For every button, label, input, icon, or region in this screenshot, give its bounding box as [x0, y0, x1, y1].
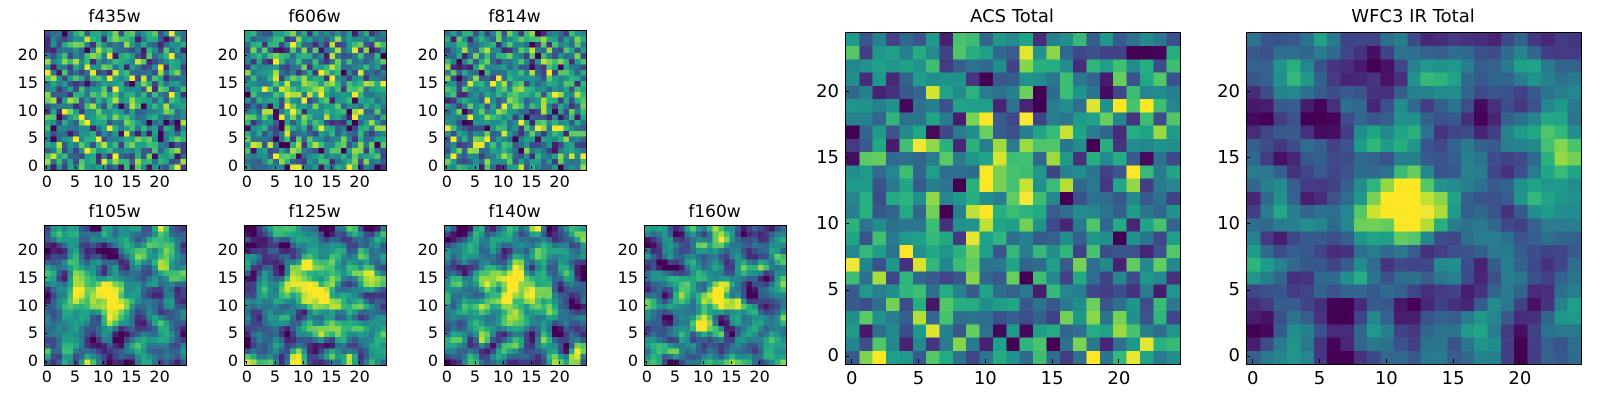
x-tick — [1386, 359, 1387, 363]
y-tick — [44, 250, 47, 251]
x-tick — [759, 361, 760, 364]
y-tick-label: 0 — [382, 158, 438, 174]
x-tick-label: 20 — [530, 174, 590, 190]
y-tick — [444, 333, 447, 334]
y-tick — [845, 290, 849, 291]
y-tick-label: 15 — [382, 75, 438, 91]
panel-f140w: f140w0510152005101520 — [444, 225, 585, 364]
y-tick — [44, 305, 47, 306]
heatmap-f435w — [44, 30, 187, 171]
panel-acs-total: ACS Total0510152005101520 — [845, 32, 1179, 363]
x-tick — [503, 166, 504, 169]
x-tick-label: 15 — [1423, 370, 1483, 388]
x-tick — [1519, 359, 1520, 363]
x-tick — [1453, 359, 1454, 363]
y-tick-label: 5 — [0, 130, 38, 146]
x-tick — [359, 166, 360, 169]
y-tick-label: 0 — [382, 353, 438, 369]
heatmap-f606w — [244, 30, 387, 171]
heatmap-canvas-f160w — [645, 226, 786, 365]
x-tick — [559, 361, 560, 364]
y-tick-label: 0 — [182, 353, 238, 369]
y-tick-label: 15 — [582, 270, 638, 286]
x-tick-label: 0 — [1223, 370, 1283, 388]
y-tick-label: 15 — [182, 75, 238, 91]
x-tick — [303, 361, 304, 364]
heatmap-f160w — [644, 225, 787, 366]
x-tick-label: 10 — [955, 370, 1015, 388]
x-tick — [1118, 359, 1119, 363]
heatmap-f125w — [244, 225, 387, 366]
x-tick — [159, 361, 160, 364]
y-tick — [44, 166, 47, 167]
x-tick — [159, 166, 160, 169]
panel-f125w: f125w0510152005101520 — [244, 225, 385, 364]
x-tick — [359, 361, 360, 364]
x-tick — [75, 361, 76, 364]
heatmap-canvas-wfc3-ir-total — [1247, 33, 1581, 364]
panel-title-acs-total: ACS Total — [845, 8, 1179, 26]
y-tick — [644, 305, 647, 306]
y-tick — [444, 55, 447, 56]
y-tick-label: 20 — [182, 47, 238, 63]
x-tick — [675, 361, 676, 364]
x-tick — [918, 359, 919, 363]
y-tick — [244, 277, 247, 278]
y-tick — [444, 250, 447, 251]
panel-f160w: f160w0510152005101520 — [644, 225, 785, 364]
x-tick — [559, 166, 560, 169]
heatmap-f140w — [444, 225, 587, 366]
panel-title-f160w: f160w — [644, 204, 785, 221]
x-tick — [531, 361, 532, 364]
y-tick — [444, 138, 447, 139]
x-tick-label: 20 — [730, 369, 790, 385]
figure-canvas: f435w0510152005101520f606w05101520051015… — [0, 0, 1600, 400]
x-tick — [131, 166, 132, 169]
heatmap-f814w — [444, 30, 587, 171]
x-tick — [1252, 359, 1253, 363]
x-tick — [703, 361, 704, 364]
y-tick-label: 10 — [0, 298, 38, 314]
y-tick — [244, 361, 247, 362]
y-tick-label: 5 — [582, 325, 638, 341]
y-tick-label: 10 — [582, 298, 638, 314]
panel-title-f140w: f140w — [444, 204, 585, 221]
y-tick-label: 10 — [1184, 215, 1240, 233]
y-tick — [1246, 157, 1250, 158]
heatmap-canvas-f125w — [245, 226, 386, 365]
y-tick — [44, 110, 47, 111]
y-tick-label: 15 — [1184, 149, 1240, 167]
y-tick — [845, 91, 849, 92]
y-tick — [44, 361, 47, 362]
x-tick — [103, 166, 104, 169]
y-tick — [1246, 91, 1250, 92]
heatmap-acs-total — [845, 32, 1181, 365]
heatmap-wfc3-ir-total — [1246, 32, 1582, 365]
x-tick-label: 20 — [330, 174, 390, 190]
y-tick-label: 20 — [382, 47, 438, 63]
x-tick — [851, 359, 852, 363]
heatmap-canvas-f140w — [445, 226, 586, 365]
y-tick-label: 0 — [783, 347, 839, 365]
y-tick — [244, 82, 247, 83]
x-tick-label: 20 — [1490, 370, 1550, 388]
y-tick-label: 5 — [783, 281, 839, 299]
y-tick-label: 10 — [182, 103, 238, 119]
x-tick — [503, 361, 504, 364]
heatmap-f105w — [44, 225, 187, 366]
y-tick — [44, 55, 47, 56]
y-tick — [44, 138, 47, 139]
y-tick-label: 20 — [0, 47, 38, 63]
y-tick-label: 20 — [582, 242, 638, 258]
y-tick — [845, 223, 849, 224]
y-tick-label: 5 — [0, 325, 38, 341]
y-tick-label: 15 — [0, 75, 38, 91]
x-tick-label: 5 — [1289, 370, 1349, 388]
x-tick — [531, 166, 532, 169]
y-tick-label: 0 — [0, 158, 38, 174]
y-tick-label: 5 — [182, 130, 238, 146]
y-tick-label: 20 — [0, 242, 38, 258]
x-tick — [103, 361, 104, 364]
panel-f814w: f814w0510152005101520 — [444, 30, 585, 169]
x-tick-label: 20 — [530, 369, 590, 385]
y-tick — [644, 277, 647, 278]
panel-title-f125w: f125w — [244, 204, 385, 221]
y-tick-label: 15 — [0, 270, 38, 286]
y-tick-label: 0 — [582, 353, 638, 369]
x-tick — [731, 361, 732, 364]
y-tick — [444, 110, 447, 111]
y-tick-label: 20 — [1184, 83, 1240, 101]
y-tick-label: 5 — [182, 325, 238, 341]
y-tick — [444, 166, 447, 167]
y-tick — [1246, 223, 1250, 224]
y-tick — [845, 157, 849, 158]
heatmap-canvas-acs-total — [846, 33, 1180, 364]
x-tick-label: 20 — [1089, 370, 1149, 388]
y-tick-label: 10 — [0, 103, 38, 119]
x-tick — [331, 361, 332, 364]
y-tick — [1246, 290, 1250, 291]
panel-title-wfc3-ir-total: WFC3 IR Total — [1246, 8, 1580, 26]
x-tick-label: 5 — [888, 370, 948, 388]
y-tick — [44, 277, 47, 278]
panel-title-f435w: f435w — [44, 9, 185, 26]
y-tick-label: 5 — [1184, 281, 1240, 299]
y-tick — [244, 250, 247, 251]
y-tick-label: 10 — [382, 298, 438, 314]
y-tick-label: 15 — [182, 270, 238, 286]
x-tick — [275, 361, 276, 364]
x-tick — [475, 166, 476, 169]
panel-title-f606w: f606w — [244, 9, 385, 26]
y-tick — [244, 333, 247, 334]
y-tick — [444, 82, 447, 83]
y-tick — [1246, 356, 1250, 357]
y-tick-label: 20 — [382, 242, 438, 258]
x-tick — [1052, 359, 1053, 363]
y-tick-label: 20 — [182, 242, 238, 258]
y-tick-label: 10 — [382, 103, 438, 119]
x-tick-label: 20 — [130, 369, 190, 385]
x-tick — [75, 166, 76, 169]
x-tick-label: 0 — [822, 370, 882, 388]
panel-f105w: f105w0510152005101520 — [44, 225, 185, 364]
y-tick — [644, 361, 647, 362]
x-tick-label: 10 — [1356, 370, 1416, 388]
y-tick — [44, 333, 47, 334]
x-tick-label: 15 — [1022, 370, 1082, 388]
y-tick — [444, 361, 447, 362]
y-tick — [244, 305, 247, 306]
y-tick-label: 5 — [382, 130, 438, 146]
y-tick — [644, 250, 647, 251]
x-tick — [985, 359, 986, 363]
y-tick — [644, 333, 647, 334]
x-tick — [303, 166, 304, 169]
y-tick-label: 10 — [182, 298, 238, 314]
y-tick-label: 0 — [0, 353, 38, 369]
y-tick-label: 15 — [783, 149, 839, 167]
heatmap-canvas-f105w — [45, 226, 186, 365]
panel-f606w: f606w0510152005101520 — [244, 30, 385, 169]
y-tick-label: 0 — [1184, 347, 1240, 365]
x-tick-label: 20 — [130, 174, 190, 190]
y-tick — [244, 55, 247, 56]
x-tick — [131, 361, 132, 364]
heatmap-canvas-f606w — [245, 31, 386, 170]
y-tick-label: 20 — [783, 83, 839, 101]
y-tick — [244, 166, 247, 167]
heatmap-canvas-f435w — [45, 31, 186, 170]
x-tick — [1319, 359, 1320, 363]
y-tick — [244, 110, 247, 111]
x-tick — [275, 166, 276, 169]
x-tick — [331, 166, 332, 169]
panel-title-f105w: f105w — [44, 204, 185, 221]
y-tick-label: 10 — [783, 215, 839, 233]
y-tick — [845, 356, 849, 357]
y-tick-label: 0 — [182, 158, 238, 174]
heatmap-canvas-f814w — [445, 31, 586, 170]
x-tick — [475, 361, 476, 364]
panel-wfc3-ir-total: WFC3 IR Total0510152005101520 — [1246, 32, 1580, 363]
y-tick — [444, 277, 447, 278]
y-tick — [44, 82, 47, 83]
y-tick — [444, 305, 447, 306]
y-tick-label: 15 — [382, 270, 438, 286]
x-tick-label: 20 — [330, 369, 390, 385]
panel-title-f814w: f814w — [444, 9, 585, 26]
y-tick-label: 5 — [382, 325, 438, 341]
panel-f435w: f435w0510152005101520 — [44, 30, 185, 169]
y-tick — [244, 138, 247, 139]
